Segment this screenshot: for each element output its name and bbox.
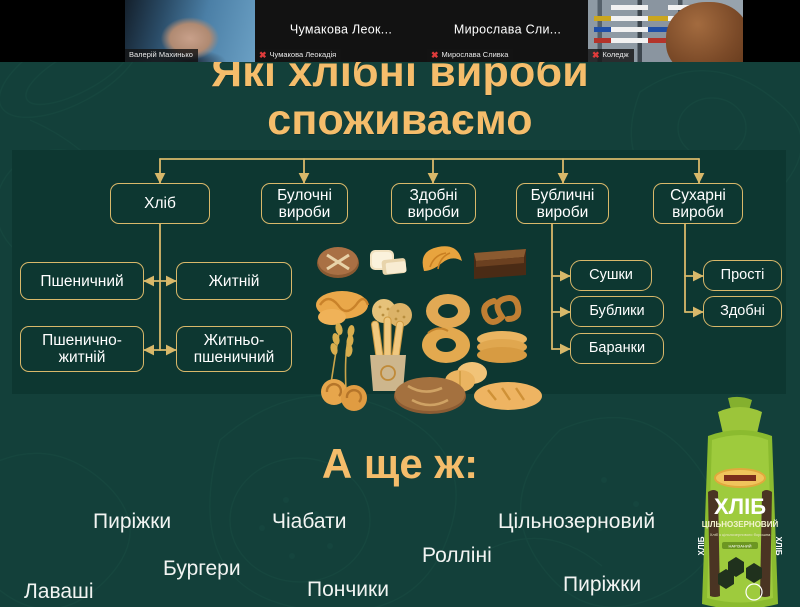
biscuits-icon [372, 299, 412, 327]
diagram-box-baranky[interactable]: Баранки [570, 333, 664, 364]
vc-tile-1[interactable]: Валерій Махинько [125, 0, 255, 62]
word-rollini: Ролліні [422, 544, 492, 568]
package-brand-word: ХЛІБ [714, 494, 766, 519]
word-pyrizhky-1: Пиріжки [93, 510, 171, 534]
videoconference-strip: Валерій Махинько Чумакова Леок... ✖ Чума… [0, 0, 800, 62]
oval-rye-loaf-icon [394, 377, 466, 414]
diagram-box-sushky-label: Сушки [589, 267, 633, 284]
bagel-ring-icon [426, 294, 470, 328]
vc-tile-1-nameplate: Валерій Махинько [125, 49, 198, 62]
diagram-box-bublyky-label: Бублики [589, 303, 644, 320]
word-lavashi: Лаваші [24, 580, 94, 604]
vc-tile-3-center-label: Мирослава Сли... [454, 23, 561, 37]
vc-tile-2-label: Чумакова Леокадія [270, 50, 337, 60]
diagram-box-prosti-label: Прості [721, 267, 765, 284]
diagram-box-bulochni-label: Булочні вироби [277, 187, 332, 221]
diagram-box-zdobni-suhari[interactable]: Здобні [703, 296, 782, 327]
slide-title-line-2: споживаємо [0, 96, 800, 144]
vc-tile-spacer-left [0, 0, 125, 62]
diagram-box-hlib[interactable]: Хліб [110, 183, 210, 224]
diagram-box-pshenychno-zhytnii-label: Пшенично- житній [42, 332, 122, 366]
diagram-box-zhytnii[interactable]: Житній [176, 262, 292, 300]
vc-tile-1-label: Валерій Махинько [129, 50, 193, 60]
diagram-box-bublyky[interactable]: Бублики [570, 296, 664, 327]
flatbread-stack-icon [477, 331, 527, 363]
vc-tile-spacer-right [743, 0, 800, 62]
slide-stage: Валерій Махинько Чумакова Леок... ✖ Чума… [0, 0, 800, 607]
vc-tile-4-label: Коледж [603, 50, 629, 60]
diagram-box-suharni-label: Сухарні вироби [670, 187, 726, 221]
microphone-muted-icon: ✖ [592, 51, 600, 60]
slide-title: Які хлібні вироби споживаємо [0, 48, 800, 144]
vc-tile-4-nameplate: ✖ Коледж [588, 49, 634, 62]
vc-tile-2[interactable]: Чумакова Леок... ✖ Чумакова Леокадія [255, 0, 427, 62]
diagram-box-zdobni-suhari-label: Здобні [720, 303, 765, 320]
diagram-box-hlib-label: Хліб [144, 195, 176, 212]
microphone-muted-icon: ✖ [259, 51, 267, 60]
diagram-box-bublychni[interactable]: Бубличні вироби [516, 183, 609, 224]
diagram-box-zhytnii-label: Житній [209, 273, 260, 290]
diagram-box-baranky-label: Баранки [589, 340, 645, 357]
pretzel-icon [484, 298, 518, 322]
bread-illustrations-bottom-row [312, 372, 542, 432]
diagram-box-zhytno-pshenychnyi-label: Житньо- пшеничний [194, 332, 275, 366]
wheat-ears-icon [329, 322, 355, 390]
diagram-box-prosti[interactable]: Прості [703, 260, 782, 291]
vc-tile-2-nameplate: ✖ Чумакова Леокадія [255, 49, 341, 62]
package-side-word: ХЛІБ [697, 536, 706, 555]
svg-text:Хліб з цільнозернового борошна: Хліб з цільнозернового борошна [710, 532, 771, 537]
word-pyrizhky-2: Пиріжки [563, 573, 641, 597]
vc-tile-2-center-label: Чумакова Леок... [290, 23, 392, 37]
vc-tile-3-label: Мирослава Сливка [442, 50, 509, 60]
microphone-muted-icon: ✖ [431, 51, 439, 60]
round-rye-loaf-icon [317, 247, 359, 278]
word-burgery: Бургери [163, 557, 241, 581]
buns-icon [445, 362, 487, 392]
vc-tile-4[interactable]: ✖ Коледж [588, 0, 743, 62]
diagram-box-bulochni[interactable]: Булочні вироби [261, 183, 348, 224]
bread-illustrations-cluster [312, 245, 542, 393]
vc-tile-3[interactable]: Мирослава Сли... ✖ Мирослава Сливка [427, 0, 588, 62]
braided-challah-icon [316, 291, 368, 325]
diagram-box-pshenychno-zhytnii[interactable]: Пшенично- житній [20, 326, 144, 372]
seeded-bagel-icon [422, 327, 470, 363]
diagram-box-bublychni-label: Бубличні вироби [531, 187, 595, 221]
baguettes-in-bag-icon [370, 317, 406, 391]
sliced-bread-icon [370, 250, 407, 275]
diagram-box-zhytno-pshenychnyi[interactable]: Житньо- пшеничний [176, 326, 292, 372]
word-chiabaty: Чіабати [272, 510, 346, 534]
diagram-panel: Хліб Булочні вироби Здобні вироби Бублич… [12, 150, 786, 394]
package-variant-word: ЦІЛЬНОЗЕРНОВИЙ [702, 520, 779, 529]
svg-text:НАРІЗАНИЙ: НАРІЗАНИЙ [728, 544, 751, 549]
package-side-word-right: ХЛІБ [774, 537, 783, 556]
diagram-box-suharni[interactable]: Сухарні вироби [653, 183, 743, 224]
baton-loaf-icon [474, 382, 542, 410]
diagram-box-zdobni-label: Здобні вироби [408, 187, 460, 221]
cinnamon-rolls-icon [321, 379, 367, 411]
dark-brick-loaf-icon [474, 249, 526, 279]
croissant-icon [423, 246, 462, 271]
diagram-box-sushky[interactable]: Сушки [570, 260, 652, 291]
diagram-box-pshenychnyi-label: Пшеничний [40, 273, 123, 290]
word-tsilnozernovyi: Цільнозерновий [498, 510, 655, 534]
bread-package-photo: ХЛІБ ЦІЛЬНОЗЕРНОВИЙ Хліб з цільнозерново… [688, 396, 792, 607]
diagram-box-pshenychnyi[interactable]: Пшеничний [20, 262, 144, 300]
word-ponchyky: Пончики [307, 578, 389, 602]
vc-tile-3-nameplate: ✖ Мирослава Сливка [427, 49, 513, 62]
diagram-box-zdobni[interactable]: Здобні вироби [391, 183, 476, 224]
sub-heading: А ще ж: [0, 441, 800, 487]
